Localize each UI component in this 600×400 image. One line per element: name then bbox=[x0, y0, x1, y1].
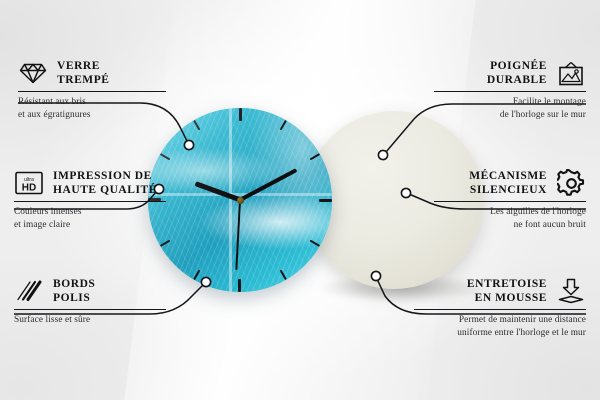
feature-description: Les aiguilles de l'horlogene font aucun … bbox=[434, 206, 586, 232]
feature-title: BORDSPOLIS bbox=[53, 277, 95, 306]
feature-heading: BORDSPOLIS bbox=[14, 276, 166, 306]
ultra-hd-icon: ultra HD bbox=[14, 168, 44, 198]
feature-description: Facilite le montagede l'horloge sur le m… bbox=[434, 96, 586, 122]
feature-heading: ENTRETOISEEN MOUSSE bbox=[414, 276, 586, 306]
feature-title: POIGNÉEDURABLE bbox=[487, 59, 547, 88]
gear-icon bbox=[556, 168, 586, 198]
feature-divider bbox=[434, 201, 586, 202]
diamond-icon bbox=[18, 58, 48, 88]
feature-title: ENTRETOISEEN MOUSSE bbox=[467, 277, 547, 306]
feature-impression-haute-qualite: ultra HD IMPRESSION DEHAUTE QUALITÉ Coul… bbox=[14, 168, 166, 232]
picture-hanger-icon bbox=[556, 58, 586, 88]
feature-heading: VERRETREMPÉ bbox=[18, 58, 166, 88]
feature-divider bbox=[14, 309, 166, 310]
feature-description: Surface lisse et sûre bbox=[14, 314, 166, 327]
feature-verre-trempe: VERRETREMPÉ Résistant aux briset aux égr… bbox=[18, 58, 166, 122]
clock-glass-gloss bbox=[148, 108, 332, 292]
infographic-canvas: VERRETREMPÉ Résistant aux briset aux égr… bbox=[0, 0, 600, 400]
feature-title: IMPRESSION DEHAUTE QUALITÉ bbox=[53, 169, 157, 198]
feature-divider bbox=[434, 91, 586, 92]
feature-description: Couleurs intenseset image claire bbox=[14, 206, 166, 232]
feature-divider bbox=[14, 201, 166, 202]
feature-heading: MÉCANISMESILENCIEUX bbox=[434, 168, 586, 198]
svg-text:HD: HD bbox=[22, 183, 36, 194]
feature-heading: POIGNÉEDURABLE bbox=[434, 58, 586, 88]
feature-poignee-durable: POIGNÉEDURABLE Facilite le montagede l'h… bbox=[434, 58, 586, 122]
feature-description: Permet de maintenir une distanceuniforme… bbox=[414, 314, 586, 340]
foam-spacer-icon bbox=[556, 276, 586, 306]
feature-description: Résistant aux briset aux égratignures bbox=[18, 96, 166, 122]
feature-divider bbox=[18, 91, 166, 92]
feature-mecanisme-silencieux: MÉCANISMESILENCIEUX Les aiguilles de l'h… bbox=[434, 168, 586, 232]
feature-title: VERRETREMPÉ bbox=[57, 59, 110, 88]
feature-heading: ultra HD IMPRESSION DEHAUTE QUALITÉ bbox=[14, 168, 166, 198]
feature-bords-polis: BORDSPOLIS Surface lisse et sûre bbox=[14, 276, 166, 327]
feature-title: MÉCANISMESILENCIEUX bbox=[469, 169, 547, 198]
feature-entretoise-en-mousse: ENTRETOISEEN MOUSSE Permet de maintenir … bbox=[414, 276, 586, 340]
clock-front-view bbox=[148, 108, 332, 292]
feature-divider bbox=[414, 309, 586, 310]
polished-edges-icon bbox=[14, 276, 44, 306]
